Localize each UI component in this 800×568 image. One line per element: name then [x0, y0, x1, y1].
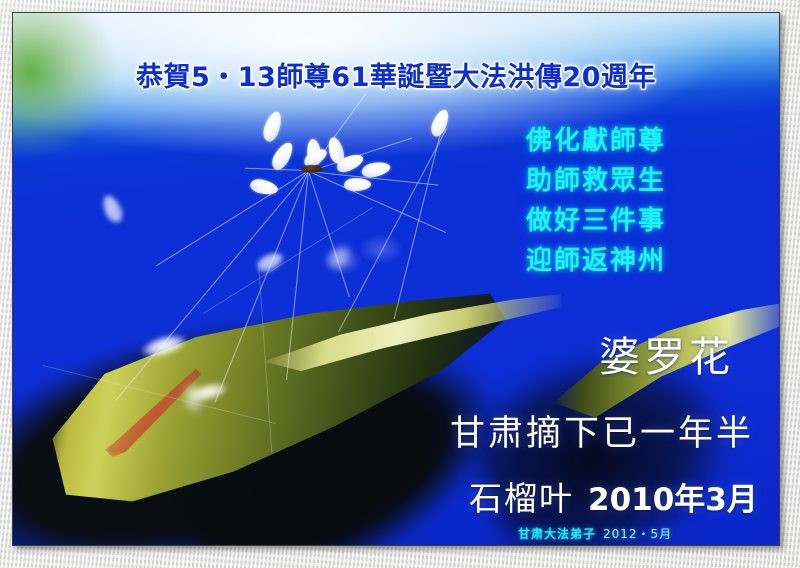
picked-note-label: 甘肃摘下已一年半 — [450, 405, 754, 456]
verse-block: 佛化獻師尊 助師救眾生 做好三件事 迎師返神州 — [526, 121, 666, 281]
leaf-type-label: 石榴叶 — [469, 479, 574, 518]
signature-date: 2012・5月 — [603, 527, 672, 541]
udumbara-bud — [261, 109, 285, 143]
udumbara-bud — [269, 139, 297, 172]
date-line: 石榴叶2010年3月 — [469, 472, 758, 520]
udumbara-bud — [249, 177, 279, 197]
verse-line-3: 做好三件事 — [526, 201, 666, 241]
verse-line-2: 助師救眾生 — [526, 161, 666, 201]
page-title: 恭賀5・13師尊61華誕暨大法洪傳20週年 — [13, 55, 779, 94]
udumbara-bud — [428, 107, 451, 138]
udumbara-bud — [344, 178, 371, 192]
udumbara-stalk — [309, 171, 446, 233]
verse-line-4: 迎師返神州 — [526, 241, 666, 281]
signature-line: 甘肃大法弟子2012・5月 — [518, 525, 672, 542]
udumbara-bud — [360, 160, 391, 180]
signature-author: 甘肃大法弟子 — [518, 527, 596, 541]
udumbara-stalk — [156, 170, 309, 266]
udumbara-bud — [100, 193, 126, 225]
photograph: 恭賀5・13師尊61華誕暨大法洪傳20週年 佛化獻師尊 助師救眾生 做好三件事 … — [13, 13, 779, 545]
flower-name-label: 婆罗花 — [599, 323, 734, 383]
flower-calyx — [301, 165, 323, 173]
date-label: 2010年3月 — [588, 482, 758, 518]
verse-line-1: 佛化獻師尊 — [526, 121, 666, 161]
photo-frame: 恭賀5・13師尊61華誕暨大法洪傳20週年 佛化獻師尊 助師救眾生 做好三件事 … — [12, 12, 780, 546]
poster-card: 恭賀5・13師尊61華誕暨大法洪傳20週年 佛化獻師尊 助師救眾生 做好三件事 … — [0, 0, 800, 568]
